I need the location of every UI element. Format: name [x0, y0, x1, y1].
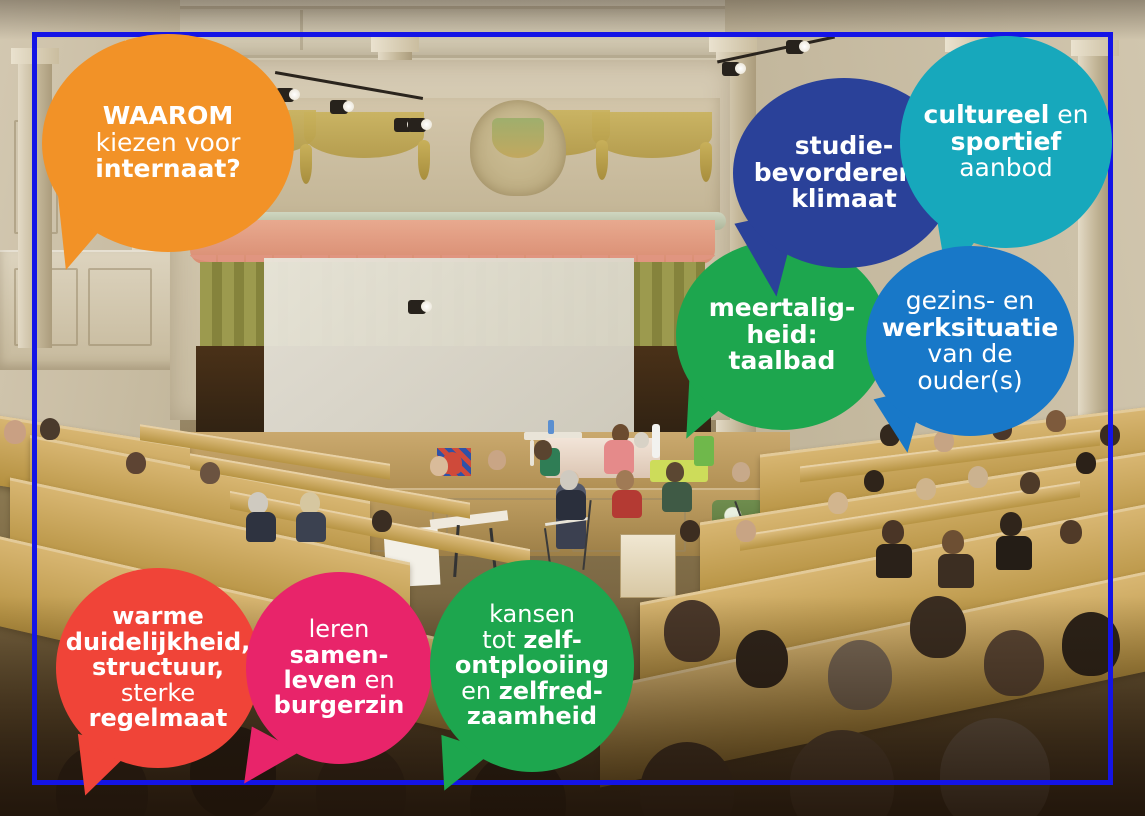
- projection-screen: [264, 258, 634, 438]
- spotlight-icon: [722, 62, 740, 76]
- bubble-leren-samenleven-burgerzin[interactable]: leren samen- leven en burgerzin: [246, 572, 432, 764]
- bubble-line: zaamheid: [467, 702, 597, 730]
- bubble-line: burgerzin: [274, 691, 405, 719]
- audience-head: [1020, 472, 1040, 494]
- bubble-warme-duidelijkheid[interactable]: warme duidelijkheid, structuur, sterke r…: [56, 568, 260, 768]
- poster-canvas: WAAROM kiezen voor internaat? cultureel …: [0, 0, 1145, 816]
- bubble-line: studie-: [795, 131, 893, 160]
- bubble-line: regelmaat: [89, 704, 228, 732]
- bubble-line: structuur,: [92, 653, 224, 681]
- audience-torso: [996, 536, 1032, 570]
- bubble-line: internaat?: [95, 154, 241, 183]
- audience-head: [1060, 520, 1082, 544]
- bubble-gezins-en-werksituatie[interactable]: gezins- en werksituatie van de ouder(s): [866, 246, 1074, 436]
- audience-torso: [296, 512, 326, 542]
- decorative-swag: [592, 112, 712, 158]
- bubble-line: en: [461, 677, 499, 705]
- bubble-line: en: [1049, 100, 1088, 129]
- event-poster: [620, 534, 676, 598]
- audience-torso: [662, 482, 692, 512]
- spotlight-icon: [408, 118, 426, 132]
- stage-prop-bottle: [548, 420, 554, 434]
- audience-head: [4, 420, 26, 444]
- audience-head: [680, 520, 700, 542]
- bubble-line: leren: [309, 615, 370, 643]
- swag-tassel: [596, 140, 608, 180]
- bubble-line: duidelijkheid,: [66, 628, 250, 656]
- bubble-line: WAAROM: [103, 101, 234, 130]
- swag-tassel: [300, 144, 312, 184]
- bubble-line: sterke: [121, 679, 195, 707]
- bubble-cultureel-sportief-aanbod[interactable]: cultureel en sportief aanbod: [900, 36, 1112, 248]
- bubble-line: werksituatie: [882, 313, 1059, 342]
- bubble-line: heid:: [746, 320, 817, 349]
- audience-head: [666, 462, 684, 482]
- audience-head: [534, 440, 552, 460]
- audience-head: [200, 462, 220, 484]
- performer-head: [634, 432, 649, 448]
- bubble-line: warme: [112, 602, 204, 630]
- audience-head: [372, 510, 392, 532]
- bubble-line: zelfred-: [499, 677, 603, 705]
- audience-head: [736, 520, 756, 542]
- bubble-line: klimaat: [791, 184, 897, 213]
- bubble-line: leven: [283, 666, 357, 694]
- audience-torso: [246, 512, 276, 542]
- bubble-kansen-zelfontplooiing[interactable]: kansen tot zelf- ontplooiing en zelfred-…: [430, 560, 634, 772]
- audience-head: [916, 478, 936, 500]
- audience-head: [248, 492, 268, 514]
- column: [18, 48, 52, 348]
- audience-torso: [876, 544, 912, 578]
- ornamental-crest: [470, 100, 566, 196]
- audience-head: [1046, 410, 1066, 432]
- audience-head: [942, 530, 964, 554]
- bubble-line: sportief: [951, 127, 1062, 156]
- audience-head: [882, 520, 904, 544]
- audience-head: [864, 470, 884, 492]
- spotlight-icon: [330, 100, 348, 114]
- audience-head: [828, 492, 848, 514]
- audience-head: [40, 418, 60, 440]
- bubble-line: kiezen voor: [96, 128, 241, 157]
- audience-head: [430, 456, 448, 476]
- audience-head: [1100, 424, 1120, 446]
- bubble-line: gezins- en: [906, 286, 1034, 315]
- bubble-line: samen-: [290, 641, 389, 669]
- audience-torso: [612, 490, 642, 518]
- audience-head: [126, 452, 146, 474]
- bubble-line: zelf-: [523, 626, 581, 654]
- bubble-line: ouder(s): [917, 366, 1022, 395]
- stage-prop-bed-headboard: [652, 424, 660, 458]
- audience-head: [488, 450, 506, 470]
- bubble-line: taalbad: [729, 346, 836, 375]
- audience-torso: [938, 554, 974, 588]
- audience-head: [1000, 512, 1022, 536]
- bubble-line: ontplooiing: [455, 651, 609, 679]
- bubble-waarom[interactable]: WAAROM kiezen voor internaat?: [42, 34, 294, 252]
- wall-panel: [88, 268, 152, 346]
- bubble-line: en: [357, 666, 395, 694]
- audience-head: [560, 470, 578, 490]
- audience-head: [732, 462, 750, 482]
- audience-head: [1076, 452, 1096, 474]
- audience-torso: [556, 490, 586, 520]
- bubble-line: meertalig-: [709, 293, 856, 322]
- audience-head: [968, 466, 988, 488]
- performer-torso: [604, 440, 634, 474]
- bubble-line: aanbod: [959, 153, 1053, 182]
- audience-head: [300, 492, 320, 514]
- bubble-line: cultureel: [924, 100, 1050, 129]
- audience-head: [616, 470, 634, 490]
- spotlight-icon: [408, 300, 426, 314]
- swag-tassel: [700, 142, 712, 182]
- swag-tassel: [418, 140, 430, 180]
- bubble-line: kansen: [489, 600, 575, 628]
- spotlight-icon: [786, 40, 804, 54]
- bubble-line: van de: [927, 339, 1012, 368]
- bubble-line: tot: [482, 626, 523, 654]
